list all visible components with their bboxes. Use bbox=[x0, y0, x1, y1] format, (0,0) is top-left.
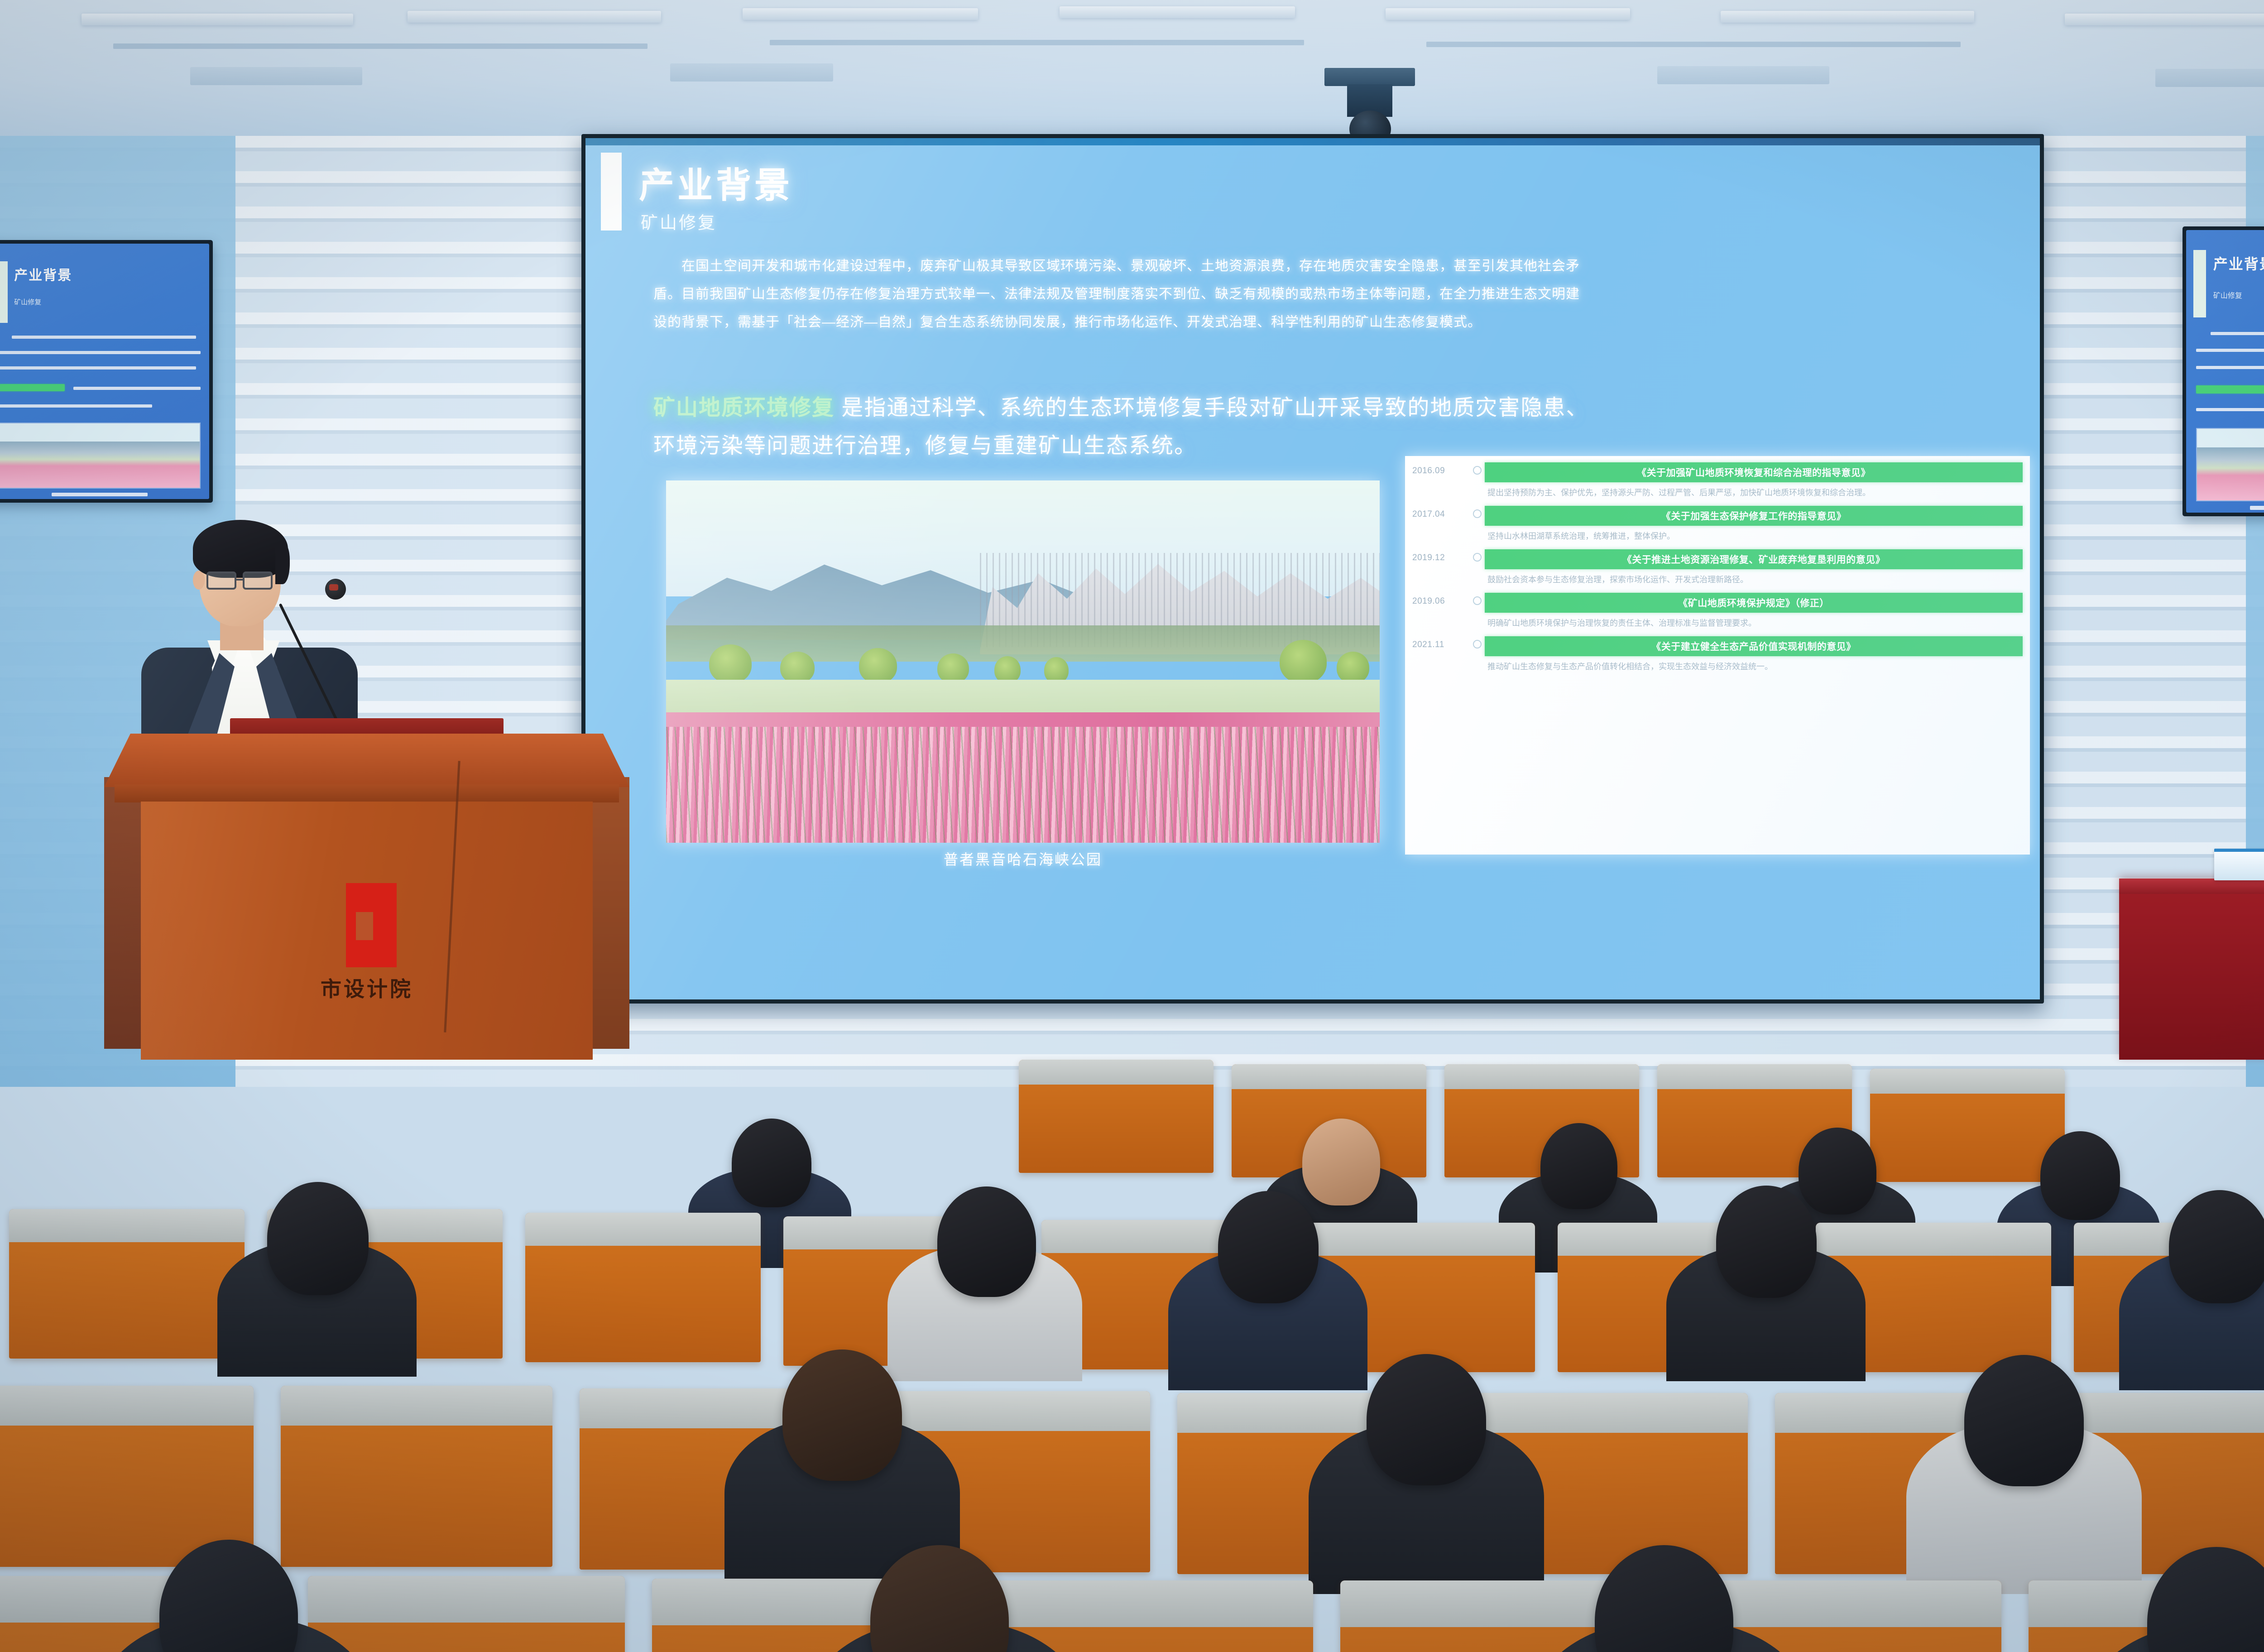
timeline-date: 2016.09 bbox=[1412, 462, 1469, 476]
slide-body-paragraph: 在国土空间开发和城市化建设过程中，废弃矿山极其导致区域环境污染、景观破坏、土地资… bbox=[653, 252, 1586, 336]
timeline-date: 2021.11 bbox=[1412, 636, 1469, 650]
right-side-monitor: 产业背景 矿山修复 bbox=[2182, 226, 2264, 516]
presenter-hair bbox=[193, 520, 288, 578]
left-monitor-title: 产业背景 bbox=[14, 264, 72, 284]
slide-title: 产业背景 bbox=[639, 157, 793, 208]
photo-caption: 普者黑音哈石海峡公园 bbox=[666, 848, 1380, 869]
timeline-desc: 提出坚持预防为主、保护优先，坚持源头严防、过程严管、后果严惩，加快矿山地质环境恢… bbox=[1485, 482, 2023, 499]
attendee-head bbox=[267, 1182, 369, 1295]
left-side-monitor: 产业背景 矿山修复 bbox=[0, 240, 213, 503]
seat bbox=[0, 1386, 254, 1567]
timeline-item: 2017.04 《关于加强生态保护修复工作的指导意见》 坚持山水林田湖草系统治理… bbox=[1412, 506, 2023, 543]
presentation-slide: 产业背景 矿山修复 在国土空间开发和城市化建设过程中，废弃矿山极其导致区域环境污… bbox=[585, 145, 2040, 999]
timeline-title: 《关于加强矿山地质环境恢复和综合治理的指导意见》 bbox=[1485, 462, 2023, 482]
right-monitor-title: 产业背景 bbox=[2213, 253, 2264, 274]
attendee-head bbox=[782, 1349, 902, 1481]
timeline-desc: 鼓励社会资本参与生态修复治理，探索市场化运作、开发式治理新路径。 bbox=[1485, 569, 2023, 586]
name-card bbox=[2214, 849, 2264, 880]
timeline-item: 2016.09 《关于加强矿山地质环境恢复和综合治理的指导意见》 提出坚持预防为… bbox=[1412, 462, 2023, 499]
attendee-head bbox=[1964, 1355, 2084, 1486]
timeline-title: 《关于推进土地资源治理修复、矿业废弃地复垦利用的意见》 bbox=[1485, 549, 2023, 569]
seat bbox=[996, 1580, 1313, 1652]
screen-top-band bbox=[585, 138, 2040, 145]
slide-subtitle: 矿山修复 bbox=[641, 209, 717, 234]
attendee-head bbox=[2169, 1190, 2264, 1303]
audience-area bbox=[0, 928, 2264, 1652]
attendee-head bbox=[1716, 1186, 1817, 1298]
timeline-title: 《关于建立健全生态产品价值实现机制的意见》 bbox=[1485, 636, 2023, 656]
right-monitor-subtitle: 矿山修复 bbox=[2213, 289, 2242, 300]
timeline-marker-icon bbox=[1469, 593, 1485, 605]
timeline-desc: 明确矿山地质环境保护与治理恢复的责任主体、治理标准与监督管理要求。 bbox=[1485, 613, 2023, 630]
seat bbox=[1019, 1060, 1214, 1173]
attendee-head bbox=[1540, 1123, 1617, 1209]
definition-term: 矿山地质环境修复 bbox=[653, 396, 835, 420]
timeline-desc: 坚持山水林田湖草系统治理，统筹推进，整体保护。 bbox=[1485, 526, 2023, 543]
timeline-marker-icon bbox=[1469, 636, 1485, 648]
ceiling-camera-icon bbox=[1324, 68, 1415, 86]
conference-room: 产业背景 矿山修复 产业背景 矿山修复 bbox=[0, 0, 2264, 1652]
ceiling bbox=[0, 0, 2264, 145]
timeline-marker-icon bbox=[1469, 462, 1485, 475]
timeline-item: 2019.06 《矿山地质环境保护规定》（修正） 明确矿山地质环境保护与治理恢复… bbox=[1412, 593, 2023, 630]
attendee-head bbox=[1302, 1119, 1380, 1205]
glasses-icon bbox=[206, 571, 236, 590]
timeline-desc: 推动矿山生态修复与生态产品价值转化相结合，实现生态效益与经济效益统一。 bbox=[1485, 656, 2023, 673]
seat bbox=[308, 1576, 625, 1652]
mine-restoration-photo bbox=[666, 480, 1380, 843]
attendee-head bbox=[1218, 1191, 1319, 1303]
seat bbox=[525, 1213, 761, 1362]
timeline-marker-icon bbox=[1469, 549, 1485, 562]
timeline-date: 2019.12 bbox=[1412, 549, 1469, 563]
title-accent-bar bbox=[601, 153, 622, 231]
microphone-icon bbox=[325, 579, 346, 600]
timeline-date: 2019.06 bbox=[1412, 593, 1469, 606]
timeline-date: 2017.04 bbox=[1412, 506, 1469, 519]
projection-screen: 产业背景 矿山修复 在国土空间开发和城市化建设过程中，废弃矿山极其导致区域环境污… bbox=[581, 134, 2044, 1004]
attendee-head bbox=[732, 1119, 811, 1207]
left-monitor-subtitle: 矿山修复 bbox=[14, 297, 41, 307]
timeline-item: 2019.12 《关于推进土地资源治理修复、矿业废弃地复垦利用的意见》 鼓励社会… bbox=[1412, 549, 2023, 586]
attendee-head bbox=[1799, 1128, 1876, 1215]
definition-block: 矿山地质环境修复 是指通过科学、系统的生态环境修复手段对矿山开采导致的地质灾害隐… bbox=[653, 389, 1609, 465]
seat bbox=[9, 1209, 245, 1359]
timeline-marker-icon bbox=[1469, 506, 1485, 518]
timeline-item: 2021.11 《关于建立健全生态产品价值实现机制的意见》 推动矿山生态修复与生… bbox=[1412, 636, 2023, 673]
seat bbox=[1870, 1069, 2065, 1182]
attendee-head bbox=[1367, 1354, 1486, 1485]
policy-timeline-panel: 2016.09 《关于加强矿山地质环境恢复和综合治理的指导意见》 提出坚持预防为… bbox=[1405, 456, 2030, 855]
attendee-head bbox=[937, 1186, 1036, 1297]
timeline-title: 《矿山地质环境保护规定》（修正） bbox=[1485, 593, 2023, 613]
seat bbox=[281, 1386, 552, 1567]
timeline-title: 《关于加强生态保护修复工作的指导意见》 bbox=[1485, 506, 2023, 526]
attendee-head bbox=[2040, 1131, 2120, 1220]
